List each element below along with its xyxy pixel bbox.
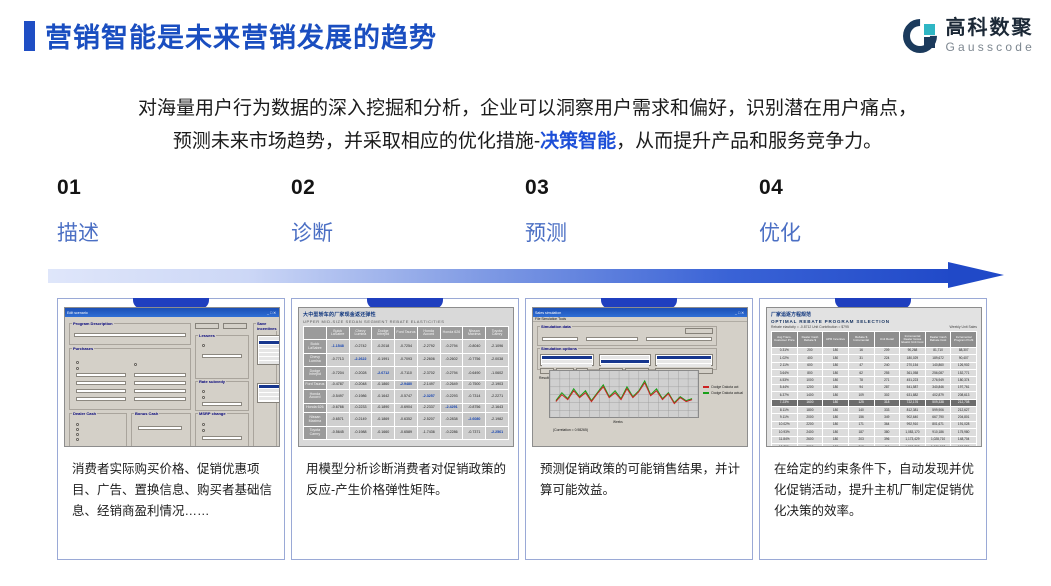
optimal-cell: 112,386 <box>951 443 977 447</box>
optimal-cell: 801,671 <box>925 421 951 428</box>
model-list[interactable] <box>257 335 280 365</box>
matrix-cell: -0.7110 <box>395 367 418 380</box>
matrix-row: Dodge Intrepid-0.7204-0.2028-2.6712-0.71… <box>304 367 509 380</box>
save-button[interactable] <box>195 323 219 329</box>
matrix-cell: -0.2028 <box>349 367 372 380</box>
matrix-cell: -0.1642 <box>372 390 395 403</box>
optimal-row: 10.02%2200180171364992,910801,671191,028 <box>772 421 977 428</box>
optimal-cell: 2600 <box>797 436 823 443</box>
region-list[interactable] <box>257 383 280 403</box>
optimal-cell: 31 <box>848 355 874 362</box>
optimal-cell: 204,801 <box>951 414 977 421</box>
optimal-cell: 287 <box>874 384 900 391</box>
optimal-cell: 8.11% <box>772 407 798 414</box>
menu-tools[interactable]: Tools <box>558 317 566 321</box>
optimal-cell: 541,587 <box>900 384 926 391</box>
optimal-cell: 180 <box>823 414 849 421</box>
slide: 营销智能是未来营销发展的趋势 高科数聚 Gausscode 对海量用户行为数据的… <box>0 0 1051 586</box>
optimal-cell: 361,058 <box>900 370 926 377</box>
mock-window-title: Edit scenario <box>67 310 88 315</box>
optimal-row: 8.11%1800180140333812,381599,906212,627 <box>772 407 977 414</box>
matrix-cell: -0.4787 <box>326 380 349 390</box>
arrow-head-icon <box>948 262 1004 288</box>
matrix-cell: -2.0038 <box>486 353 509 366</box>
mock-window-titlebar: Edit scenario _ □ ✕ <box>65 308 279 317</box>
group-program-description: Program Description <box>69 323 191 345</box>
menu-simulation[interactable]: Simulation <box>541 317 557 321</box>
optimal-row: 4.53%100018078271451,223276,949180,374 <box>772 377 977 384</box>
step-4: 04 优化 <box>759 176 979 247</box>
matrix-cell: -2.6712 <box>372 367 395 380</box>
matrix-cell: -0.1986 <box>349 390 372 403</box>
optimal-panel: 厂家追逐方程规范 OPTIMAL REBATE PROGRAM SELECTIO… <box>767 308 981 446</box>
optimal-cell: 125 <box>848 399 874 406</box>
optimal-cell: 224 <box>874 355 900 362</box>
legend-swatch-red-icon <box>703 386 709 388</box>
menu-file[interactable]: File <box>535 317 540 321</box>
optimal-col-header: Dealer Cash Rebate Cost <box>925 332 951 348</box>
screenshot-incentive-dialog: Edit scenario _ □ ✕ Program Description … <box>64 307 280 447</box>
card-caption: 消费者实际购买价格、促销优惠项目、广告、置换信息、购买者基础信息、经销商盈利情况… <box>72 459 272 522</box>
matrix-cell: -0.5747 <box>395 390 418 403</box>
matrix-row-header: Nissan Maxima <box>304 413 327 426</box>
optimal-cell: 126,902 <box>951 362 977 369</box>
optimal-cell: 2800 <box>797 443 823 447</box>
matrix-col-header: Dodge Intrepid <box>372 327 395 340</box>
matrix-cell: -0.2649 <box>440 380 463 390</box>
matrix-corner-cell <box>304 327 327 340</box>
optimal-cell: 175,980 <box>951 429 977 436</box>
optimal-cell: 600 <box>797 362 823 369</box>
matrix-cell: -0.6904 <box>395 403 418 413</box>
screenshot-elasticity-matrix: 大中型轿车的厂家现金返还弹性 UPPER MID-SIZE SEDAN SEGM… <box>298 307 514 447</box>
optimal-cell: 812,381 <box>900 407 926 414</box>
mock-window-body: Program Description Purchases <box>65 317 279 446</box>
options-list[interactable] <box>540 354 594 366</box>
optimal-cell: 1800 <box>797 407 823 414</box>
card-1[interactable]: Edit scenario _ □ ✕ Program Description … <box>57 298 285 560</box>
optimal-cell: 1,083,170 <box>900 429 926 436</box>
matrix-cell: -2.2271 <box>486 390 509 403</box>
matrix-cell: -0.2018 <box>372 340 395 353</box>
matrix-row-header: Honda 626 <box>304 403 327 413</box>
group-title: Bonus Cash <box>134 411 159 416</box>
optimal-cell: 180 <box>823 421 849 428</box>
optimal-cell: 6.37% <box>772 392 798 399</box>
optimal-cell: 333 <box>874 407 900 414</box>
matrix-cell: -0.2048 <box>349 380 372 390</box>
optimal-cell: 94 <box>848 384 874 391</box>
matrix-cell: -0.6766 <box>326 403 349 413</box>
matrix-row: Chevy Lumina-0.7713-2.2622-0.1991-0.7093… <box>304 353 509 366</box>
optimal-cell: 7.23% <box>772 399 798 406</box>
mock-window-titlebar: Sales simulation _ □ ✕ <box>533 308 747 317</box>
matrix-cell: -0.6589 <box>395 426 418 439</box>
matrix-cell: -0.7314 <box>463 390 486 403</box>
group-bonus-cash: Bonus Cash <box>131 413 191 447</box>
optimal-cell: 1200 <box>797 384 823 391</box>
brand-logo: 高科数聚 Gausscode <box>903 18 1035 53</box>
step-label: 诊断 <box>291 217 511 247</box>
step-number: 02 <box>291 176 511 200</box>
matrix-cell: -0.1890 <box>372 403 395 413</box>
matrix-cell: -0.2286 <box>440 426 463 439</box>
matrix-cell: -0.7371 <box>463 426 486 439</box>
card-4[interactable]: 厂家追逐方程规范 OPTIMAL REBATE PROGRAM SELECTIO… <box>759 298 987 560</box>
matrix-row: Honda 626-0.6766-0.2233-0.1890-0.6904-2.… <box>304 403 509 413</box>
card-3[interactable]: Sales simulation _ □ ✕ File Simulation T… <box>525 298 753 560</box>
matrix-cell: -0.1988 <box>349 426 372 439</box>
matrix-col-header: Chevy Lumina <box>349 327 372 340</box>
matrix-col-header: Toyota Camry <box>486 327 509 340</box>
optimal-row: 7.23%1600180125318722,176509,338212,708 <box>772 399 977 406</box>
card-caption: 预测促销政策的可能销售结果，并计算可能效益。 <box>540 459 740 501</box>
optimal-cell: 599,906 <box>925 407 951 414</box>
matrix-row-header: Ford Taurus <box>304 380 327 390</box>
matrix-cell: -2.1903 <box>486 380 509 390</box>
optimal-col-header: Incremental Dealer Gross Elastic Unit Co… <box>900 332 926 348</box>
matrix-row-header: Honda Accord <box>304 390 327 403</box>
optimal-cell: 1600 <box>797 399 823 406</box>
matrix-cell: -2.2337 <box>417 403 440 413</box>
progress-arrow <box>48 262 1008 288</box>
optimal-cell: 1,263,703 <box>900 443 926 447</box>
matrix-row-header: Chevy Lumina <box>304 353 327 366</box>
group-lessees: Lessees <box>195 335 249 379</box>
step-labels: 01 描述 02 诊断 03 预测 04 优化 <box>0 176 1051 256</box>
optimal-cell: 140 <box>848 407 874 414</box>
optimal-cell: 1000 <box>797 377 823 384</box>
optimal-body: 0.31%2001801620990,26881,71088,3071.02%4… <box>772 347 977 447</box>
optimal-cell: 509,338 <box>925 399 951 406</box>
lead-highlight-term: 决策智能 <box>540 131 616 152</box>
group-rate-subvedy: Rate subvedy <box>195 381 249 411</box>
optimal-cell: 218 <box>848 443 874 447</box>
optimal-cell: 451,223 <box>900 377 926 384</box>
matrix-cell: -0.1860 <box>372 380 395 390</box>
matrix-row-header: Buick LaSabre <box>304 340 327 353</box>
optimal-header-row: Avg Trans. Customer PriceDealer Cash Reb… <box>772 332 977 348</box>
optimal-cell: 180 <box>823 392 849 399</box>
optimal-subline: Rebate elasticity = -0.8712 Unit Contrib… <box>771 325 977 329</box>
optimal-cell: 255 <box>874 370 900 377</box>
matrix-cell: -2.3257 <box>417 390 440 403</box>
optimal-cell: 47 <box>848 362 874 369</box>
matrix-cell: -0.7713 <box>326 353 349 366</box>
matrix-row: Nissan Maxima-0.6571-0.2149-0.1869-0.635… <box>304 413 509 426</box>
metrics-list[interactable] <box>655 354 713 366</box>
optimal-col-header: Unit Retail <box>874 332 900 348</box>
card-2[interactable]: 大中型轿车的厂家现金返还弹性 UPPER MID-SIZE SEDAN SEGM… <box>291 298 519 560</box>
step-3: 03 预测 <box>525 176 745 247</box>
elasticity-table: Buick LaSabreChevy LuminaDodge IntrepidF… <box>303 326 509 440</box>
lead-line-2-after: ，从而提升产品和服务竞争力。 <box>616 131 882 152</box>
optimal-cell: 364 <box>874 421 900 428</box>
optimal-subline-right: Weekly Unit Sales <box>950 325 977 329</box>
optimal-cell: 180 <box>823 384 849 391</box>
matrix-cell: -0.1660 <box>372 426 395 439</box>
optimal-cell: 180 <box>823 370 849 377</box>
matrix-cell: -0.2149 <box>349 413 372 426</box>
legend-label: Dodge Dakota actual <box>711 391 743 395</box>
optimal-cell: 5.44% <box>772 384 798 391</box>
optimal-cell: 396 <box>874 436 900 443</box>
matrix-cell: -0.1991 <box>372 353 395 366</box>
matrix-row: Ford Taurus-0.4787-0.2048-0.1860-2.9480-… <box>304 380 509 390</box>
optimal-cell: 156 <box>848 414 874 421</box>
matrix-cell: -2.2792 <box>417 340 440 353</box>
arrow-shaft <box>48 269 956 283</box>
optimal-title-cn: 厂家追逐方程规范 <box>771 311 977 318</box>
group-title: Program Description <box>72 321 114 326</box>
optimal-cell: 16 <box>848 347 874 354</box>
matrix-cell: -0.1869 <box>372 413 395 426</box>
logo-name-en: Gausscode <box>945 41 1035 53</box>
optimal-cell: 152,771 <box>951 370 977 377</box>
optimal-cell: 148,704 <box>951 436 977 443</box>
optimal-cell: 78 <box>848 377 874 384</box>
optimal-cell: 302 <box>874 392 900 399</box>
optimal-cell: 189,672 <box>925 355 951 362</box>
group-title: MSRP change <box>198 411 227 416</box>
lead-line-2-before: 预测未来市场趋势，并采取相应的优化措施- <box>173 131 540 152</box>
matrix-cell: -0.7093 <box>395 353 418 366</box>
menubar[interactable]: File Simulation Tools <box>533 317 747 322</box>
optimal-cell: 180,029 <box>900 355 926 362</box>
matrix-col-header: Buick LaSabre <box>326 327 349 340</box>
matrix-cell: -0.5497 <box>326 390 349 403</box>
matrix-row: Buick LaSabre-1.1548-0.2742-0.2018-0.725… <box>304 340 509 353</box>
optimal-cell: 62 <box>848 370 874 377</box>
optimal-row: 12.79%28001802184111,263,7031,101,017112… <box>772 443 977 447</box>
optimal-cell: 0.31% <box>772 347 798 354</box>
group-title: Save incentives <box>256 321 278 331</box>
optimal-row: 9.11%2000180156349902,640667,790204,801 <box>772 414 977 421</box>
simulation-chart <box>549 370 699 418</box>
group-dealer-cash: Dealer Cash <box>69 413 127 447</box>
matrix-row-header: Toyota Camry <box>304 426 327 439</box>
correlation-footnote: (Correlation = 0.98265) <box>553 428 588 432</box>
optimal-cell: 667,790 <box>925 414 951 421</box>
step-label: 预测 <box>525 217 745 247</box>
optimal-cell: 180 <box>823 436 849 443</box>
models-list[interactable] <box>599 354 651 366</box>
matrix-cell: -0.2794 <box>440 367 463 380</box>
logo-name-cn: 高科数聚 <box>945 18 1035 38</box>
group-msrp-change: MSRP change <box>195 413 249 447</box>
legend-swatch-green-icon <box>703 392 709 394</box>
group-title: Simulation options <box>540 346 578 351</box>
group-title: Rate subvedy <box>198 379 226 384</box>
matrix-cell: -0.6352 <box>395 413 418 426</box>
optimal-cell: 2000 <box>797 414 823 421</box>
optimal-row: 2.11%60018047240270,154140,860126,902 <box>772 362 977 369</box>
optimal-cell: 180 <box>823 429 849 436</box>
lead-line-2: 预测未来市场趋势，并采取相应的优化措施-决策智能，从而提升产品和服务竞争力。 <box>50 125 1005 158</box>
matrix-col-header: Honda Accord <box>417 327 440 340</box>
optimal-cell: 212,627 <box>951 407 977 414</box>
optimal-cell: 902,640 <box>900 414 926 421</box>
optimal-cell: 171 <box>848 421 874 428</box>
optimal-cell: 256,087 <box>925 370 951 377</box>
optimal-cell: 910,186 <box>925 429 951 436</box>
optimal-cell: 180 <box>823 443 849 447</box>
step-1: 01 描述 <box>57 176 277 247</box>
matrix-cell: -2.1497 <box>417 380 440 390</box>
matrix-cell: -1.1548 <box>326 340 349 353</box>
matrix-cell: -2.1096 <box>486 340 509 353</box>
matrix-row: Toyota Camry-0.5645-0.1988-0.1660-0.6589… <box>304 426 509 439</box>
matrix-cell: -0.7254 <box>395 340 418 353</box>
matrix-cell: -0.8040 <box>463 340 486 353</box>
optimal-row: 10.93%24001801873801,083,170910,186175,9… <box>772 429 977 436</box>
matrix-cell: -2.6080 <box>463 413 486 426</box>
optimal-cell: 10.93% <box>772 429 798 436</box>
optimal-table: Avg Trans. Customer PriceDealer Cash Reb… <box>771 331 977 447</box>
optimal-cell: 140,860 <box>925 362 951 369</box>
optimal-cell: 180,374 <box>951 377 977 384</box>
optimal-title-en: OPTIMAL REBATE PROGRAM SELECTION <box>771 319 977 324</box>
optimal-cell: 180 <box>823 407 849 414</box>
optimal-cell: 1,028,710 <box>925 436 951 443</box>
matrix-col-header: Ford Taurus <box>395 327 418 340</box>
matrix-cell: -2.3702 <box>417 367 440 380</box>
optimal-cell: 992,910 <box>900 421 926 428</box>
chart-xlabel: Weeks <box>613 420 623 424</box>
matrix-cell: -2.9480 <box>395 380 418 390</box>
optimal-cell: 9.11% <box>772 414 798 421</box>
matrix-cell: -1.0602 <box>486 367 509 380</box>
optimal-cell: 402,879 <box>925 392 951 399</box>
optimal-cell: 90,268 <box>900 347 926 354</box>
matrix-cell: -0.6571 <box>326 413 349 426</box>
optimal-cell: 12.79% <box>772 443 798 447</box>
matrix-row: Honda Accord-0.5497-0.1986-0.1642-0.5747… <box>304 390 509 403</box>
screenshot-simulation-window: Sales simulation _ □ ✕ File Simulation T… <box>532 307 748 447</box>
group-title: Lessees <box>198 333 216 338</box>
title-accent-bar <box>24 21 35 51</box>
close-button[interactable] <box>223 323 247 329</box>
card-caption: 用模型分析诊断消费者对促销政策的反应-产生价格弹性矩阵。 <box>306 459 506 501</box>
run-button[interactable] <box>685 328 713 334</box>
optimal-cell: 340,846 <box>925 384 951 391</box>
matrix-col-header: Honda 626 <box>440 327 463 340</box>
matrix-cell: -2.2606 <box>417 353 440 366</box>
optimal-cell: 10.02% <box>772 421 798 428</box>
optimal-col-header: Dealer Cash Rebate $ <box>797 332 823 348</box>
optimal-cell: 722,176 <box>900 399 926 406</box>
optimal-cell: 318 <box>874 399 900 406</box>
step-label: 描述 <box>57 217 277 247</box>
matrix-cell: -0.7204 <box>326 367 349 380</box>
group-title: Dealer Cash <box>72 411 97 416</box>
optimal-cell: 1,173,429 <box>900 436 926 443</box>
matrix-cell: -0.5645 <box>326 426 349 439</box>
optimal-row: 11.84%26001802033961,173,4291,028,710148… <box>772 436 977 443</box>
matrix-cell: -2.1643 <box>486 403 509 413</box>
matrix-cell: -2.1982 <box>486 413 509 426</box>
step-number: 04 <box>759 176 979 200</box>
logo-accent-square-icon <box>924 24 935 35</box>
matrix-cell: -2.2622 <box>349 353 372 366</box>
optimal-cell: 81,710 <box>925 347 951 354</box>
mock-window: Edit scenario _ □ ✕ Program Description … <box>65 308 279 446</box>
optimal-row: 3.64%80018062255361,058256,087152,771 <box>772 370 977 377</box>
matrix-cell: -0.7756 <box>463 353 486 366</box>
optimal-cell: 109 <box>848 392 874 399</box>
optimal-row: 6.37%1400180109302631,882402,879208,613 <box>772 392 977 399</box>
lead-line-1: 对海量用户行为数据的深入挖掘和分析，企业可以洞察用户需求和偏好，识别潜在用户痛点… <box>50 92 1005 125</box>
matrix-cell: -1.7436 <box>417 426 440 439</box>
step-number: 03 <box>525 176 745 200</box>
optimal-cell: 203 <box>848 436 874 443</box>
optimal-cell: 411 <box>874 443 900 447</box>
optimal-row: 1.02%40018031224180,029189,67290,407 <box>772 355 977 362</box>
matrix-cell: -0.7500 <box>463 380 486 390</box>
optimal-cell: 187 <box>848 429 874 436</box>
logo-text: 高科数聚 Gausscode <box>945 18 1035 53</box>
matrix-cell: -2.2561 <box>486 426 509 439</box>
optimal-col-header: Incremental Program Profit <box>951 332 977 348</box>
logo-accent-square-dark-icon <box>924 37 935 48</box>
group-title: Purchases <box>72 346 94 351</box>
matrix-cell: -0.2838 <box>440 413 463 426</box>
optimal-row: 5.44%120018094287541,587340,846197,761 <box>772 384 977 391</box>
matrix-cell: -2.4291 <box>440 403 463 413</box>
logo-mark-icon <box>903 19 937 53</box>
optimal-cell: 400 <box>797 355 823 362</box>
matrix-body: Buick LaSabre-1.1548-0.2742-0.2018-0.725… <box>304 340 509 440</box>
optimal-cell: 11.84% <box>772 436 798 443</box>
optimal-cell: 90,407 <box>951 355 977 362</box>
optimal-cell: 1400 <box>797 392 823 399</box>
matrix-cell: -0.2794 <box>440 340 463 353</box>
lead-paragraph: 对海量用户行为数据的深入挖掘和分析，企业可以洞察用户需求和偏好，识别潜在用户痛点… <box>50 92 1005 158</box>
page-title: 营销智能是未来营销发展的趋势 <box>45 16 437 55</box>
optimal-cell: 212,708 <box>951 399 977 406</box>
optimal-cell: 1,101,017 <box>925 443 951 447</box>
window-controls-icon: _ □ ✕ <box>735 310 744 315</box>
card-caption: 在给定的约束条件下，自动发现并优化促销活动，提升主机厂制定促销优化决策的效率。 <box>774 459 974 522</box>
optimal-cell: 209 <box>874 347 900 354</box>
optimal-cell: 1.02% <box>772 355 798 362</box>
optimal-subline-left: Rebate elasticity = -0.8712 Unit Contrib… <box>771 325 849 329</box>
matrix-col-header: Nissan Maxima <box>463 327 486 340</box>
optimal-cell: 180 <box>823 355 849 362</box>
screenshot-optimal-program-table: 厂家追逐方程规范 OPTIMAL REBATE PROGRAM SELECTIO… <box>766 307 982 447</box>
mock-window-title: Sales simulation <box>535 310 561 315</box>
legend-label: Dodge Dakota act <box>711 385 738 389</box>
optimal-cell: 3.64% <box>772 370 798 377</box>
group-purchases: Purchases <box>69 348 191 410</box>
optimal-cell: 380 <box>874 429 900 436</box>
optimal-cell: 191,028 <box>951 421 977 428</box>
optimal-cell: 180 <box>823 377 849 384</box>
optimal-cell: 180 <box>823 362 849 369</box>
matrix-title-cn: 大中型轿车的厂家现金返还弹性 <box>303 311 509 318</box>
step-label: 优化 <box>759 217 979 247</box>
optimal-cell: 271 <box>874 377 900 384</box>
optimal-col-header: Rebate $ Incremental <box>848 332 874 348</box>
matrix-cell: -2.5207 <box>417 413 440 426</box>
legend-item-2: Dodge Dakota actual <box>703 390 743 396</box>
window-controls-icon: _ □ ✕ <box>267 310 276 315</box>
matrix-cell: -0.8756 <box>463 403 486 413</box>
optimal-col-header: APR Incentive <box>823 332 849 348</box>
mock-window: Sales simulation _ □ ✕ File Simulation T… <box>533 308 747 446</box>
optimal-cell: 208,613 <box>951 392 977 399</box>
chart-svg <box>550 371 698 418</box>
